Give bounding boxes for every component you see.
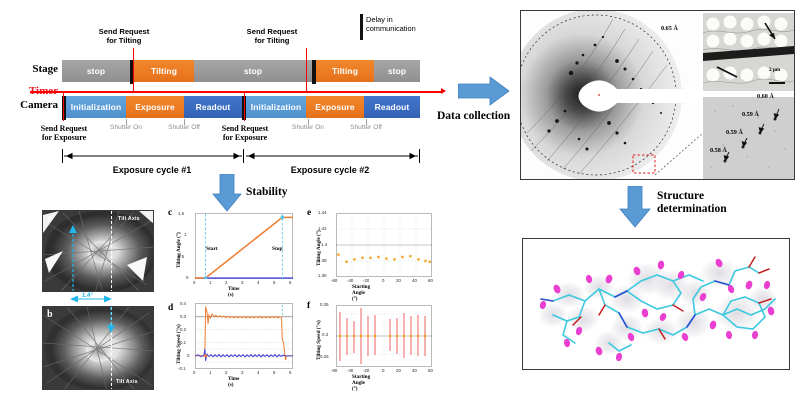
structure-determination-label: Structure determination [657,190,767,216]
plot-e-xtick-2: -20 [363,278,369,283]
diffraction-panel-a: a Tilt Axis [42,210,154,292]
plot-d-ytick-4: 0.3 [180,314,186,319]
plot-f-xtick-2: -20 [363,368,369,373]
plot-f-xtick-5: 40 [412,368,417,373]
plot-c-xlabel: Time (s) [228,286,239,298]
stage-segment-stop-1: stop [62,60,130,82]
plot-e-ylabel: Tilting Angle (°) [316,230,322,266]
plot-e-xtick-5: 40 [412,278,417,283]
plot-c-ylabel: Tilting Angle (°) [176,232,182,268]
plot-d-xlabel: Time (s) [228,376,239,388]
plot-c-xtick-1: 1 [209,280,211,285]
plot-f-xtick-4: 20 [396,368,401,373]
plot-d-ytick-0: -0.1 [178,366,186,371]
plot-c-xtick-2: 2 [225,280,227,285]
plot-e-canvas [336,213,432,277]
camera-segment-exposure-2: Exposure [306,96,364,118]
cycle-label-2: Exposure cycle #2 [250,165,410,175]
callout-line1: Send Request [205,124,285,133]
cycle-label-1: Exposure cycle #1 [72,165,232,175]
camera-track: Initialization Exposure Readout Initiali… [62,96,420,120]
callout-line2: for Tilting [84,37,164,46]
plot-c-ytick-3: 1.5 [178,211,184,216]
shutter-label-off-2: Shutter Off [341,125,391,132]
callout-line1: Send Request [24,124,104,133]
callout-line2: for Exposure [24,133,104,142]
delay-line2: communication [366,25,436,34]
plot-letter-c: c [168,208,172,218]
high-resolution-spots-inset [703,97,794,179]
plot-c-annotation-start: Start [206,246,218,252]
plot-d-xtick-2: 2 [225,370,227,375]
plot-f-ytick-1: 0.3 [322,332,328,337]
plot-c-xtick-3: 3 [241,280,243,285]
cyan-measure-a [43,211,154,292]
plot-d-xtick-6: 6 [289,370,291,375]
plot-d-xtick-5: 5 [273,370,275,375]
structure-line2: determination [657,203,767,216]
plot-e-xtick-6: 60 [428,278,433,283]
spot-label-3: 0.58 Å [710,147,727,154]
timer-arrow-head [441,88,446,94]
plot-letter-f: f [307,301,310,311]
structure-determination-arrow-icon [619,186,651,228]
molecular-structure-panel [522,238,790,370]
camera-segment-initialization-1: Initialization [66,96,126,118]
plot-f-xtick-0: -60 [331,368,337,373]
stage-segment-stop-3: stop [374,60,420,82]
diffraction-panel-b: b Tilt Axis [42,306,154,390]
plot-c-xtick-5: 5 [273,280,275,285]
delay-marker-bar [360,14,363,40]
data-collection-arrow-icon [458,76,510,106]
stage-track: stop Tilting stop Tilting stop [62,60,420,84]
plot-f-ytick-2: 0.35 [320,302,329,307]
zoom-guide-lines [641,131,711,179]
plot-d-xtick-4: 4 [257,370,259,375]
spot-label-0: 0.60 Å [757,93,774,100]
callout-line2: for Exposure [205,133,285,142]
data-collection-label: Data collection [437,110,510,123]
row-label-camera: Camera [2,100,58,111]
detector-panel: 0.65 Å 2 µm [520,10,795,180]
plot-c-ytick-2: 1 [184,232,186,237]
plot-f-xtick-3: 0 [382,368,384,373]
shutter-label-on-2: Shutter On [283,125,333,132]
plot-d-xtick-0: 0 [193,370,195,375]
callout-line2: for Tilting [232,37,312,46]
stage-segment-tilting-1: Tilting [134,60,194,82]
timer-axis-line [30,91,442,93]
plot-e-xtick-4: 20 [396,278,401,283]
callout-send-request-tilting-1: Send Request for Tilting [84,28,164,45]
delay-marker-label: Delay in communication [366,16,436,34]
plot-f-canvas [336,305,432,367]
plot-f-xlabel: Starting Angle (°) [352,374,370,392]
cyan-measure-b [43,307,154,390]
plot-d-xtick-1: 1 [209,370,211,375]
connector-tilting-1 [133,60,134,92]
plot-c-xtick-6: 6 [289,280,291,285]
connector-exposure-2 [244,91,245,121]
connector-exposure-1 [63,91,64,121]
plot-e-xtick-1: -40 [347,278,353,283]
stability-label: Stability [246,186,288,199]
shutter-label-off-1: Shutter Off [159,125,209,132]
resolution-label-outer: 0.65 Å [661,25,678,32]
plot-c-xtick-4: 4 [257,280,259,285]
plot-f-xtick-1: -40 [347,368,353,373]
plot-f-xtick-6: 60 [428,368,433,373]
shutter-label-on-1: Shutter On [101,125,151,132]
plot-e-ytick-4: 1.44 [318,210,327,215]
callout-send-request-exposure-1: Send Request for Exposure [24,124,104,142]
camera-segment-readout-2: Readout [364,96,420,118]
plot-d-ytick-1: 0 [187,353,189,358]
callout-send-request-exposure-2: Send Request for Exposure [205,124,285,142]
timing-diagram: Stage Timer Camera stop Tilting stop Til… [0,0,450,190]
scalebar-label: 2 µm [769,67,780,73]
plot-d-ytick-5: 0.4 [180,301,186,306]
angle-measure-between-panels: 1.4° [42,292,154,306]
plot-letter-e: e [307,208,311,218]
plot-c-ytick-0: 0 [186,275,188,280]
connector-tilting-2 [306,60,307,92]
plot-c-annotation-stop: Stop [272,246,283,252]
camera-segment-exposure-1: Exposure [126,96,184,118]
plot-e-ytick-0: 1.36 [318,273,327,278]
plot-letter-d: d [168,303,173,313]
plot-d-xtick-3: 3 [241,370,243,375]
callout-send-request-tilting-2: Send Request for Tilting [232,28,312,45]
stability-arrow-icon [212,174,242,212]
plot-d-ylabel: Tilting Speed (°/s) [176,324,182,364]
plot-f-ylabel: Tilting Speed (°/s) [316,320,322,360]
spot-label-2: 0.59 Å [726,129,743,136]
stage-segment-stop-2: stop [194,60,312,82]
spot-label-1: 0.59 Å [742,111,759,118]
row-label-stage: Stage [6,64,58,75]
stage-segment-tilting-2: Tilting [316,60,374,82]
plot-e-xtick-0: -60 [331,278,337,283]
structure-line1: Structure [657,190,767,203]
plot-d-canvas [195,303,293,369]
plot-e-xlabel: Starting Angle (°) [352,284,370,302]
cycle-arrows [62,151,420,162]
angle-value-label: 1.4° [82,293,93,299]
plot-c-xtick-0: 0 [193,280,195,285]
camera-segment-readout-1: Readout [184,96,242,118]
plot-e-xtick-3: 0 [382,278,384,283]
molecular-structure-image [523,239,790,370]
tem-grid-inset [703,13,794,91]
camera-segment-initialization-2: Initialization [246,96,306,118]
